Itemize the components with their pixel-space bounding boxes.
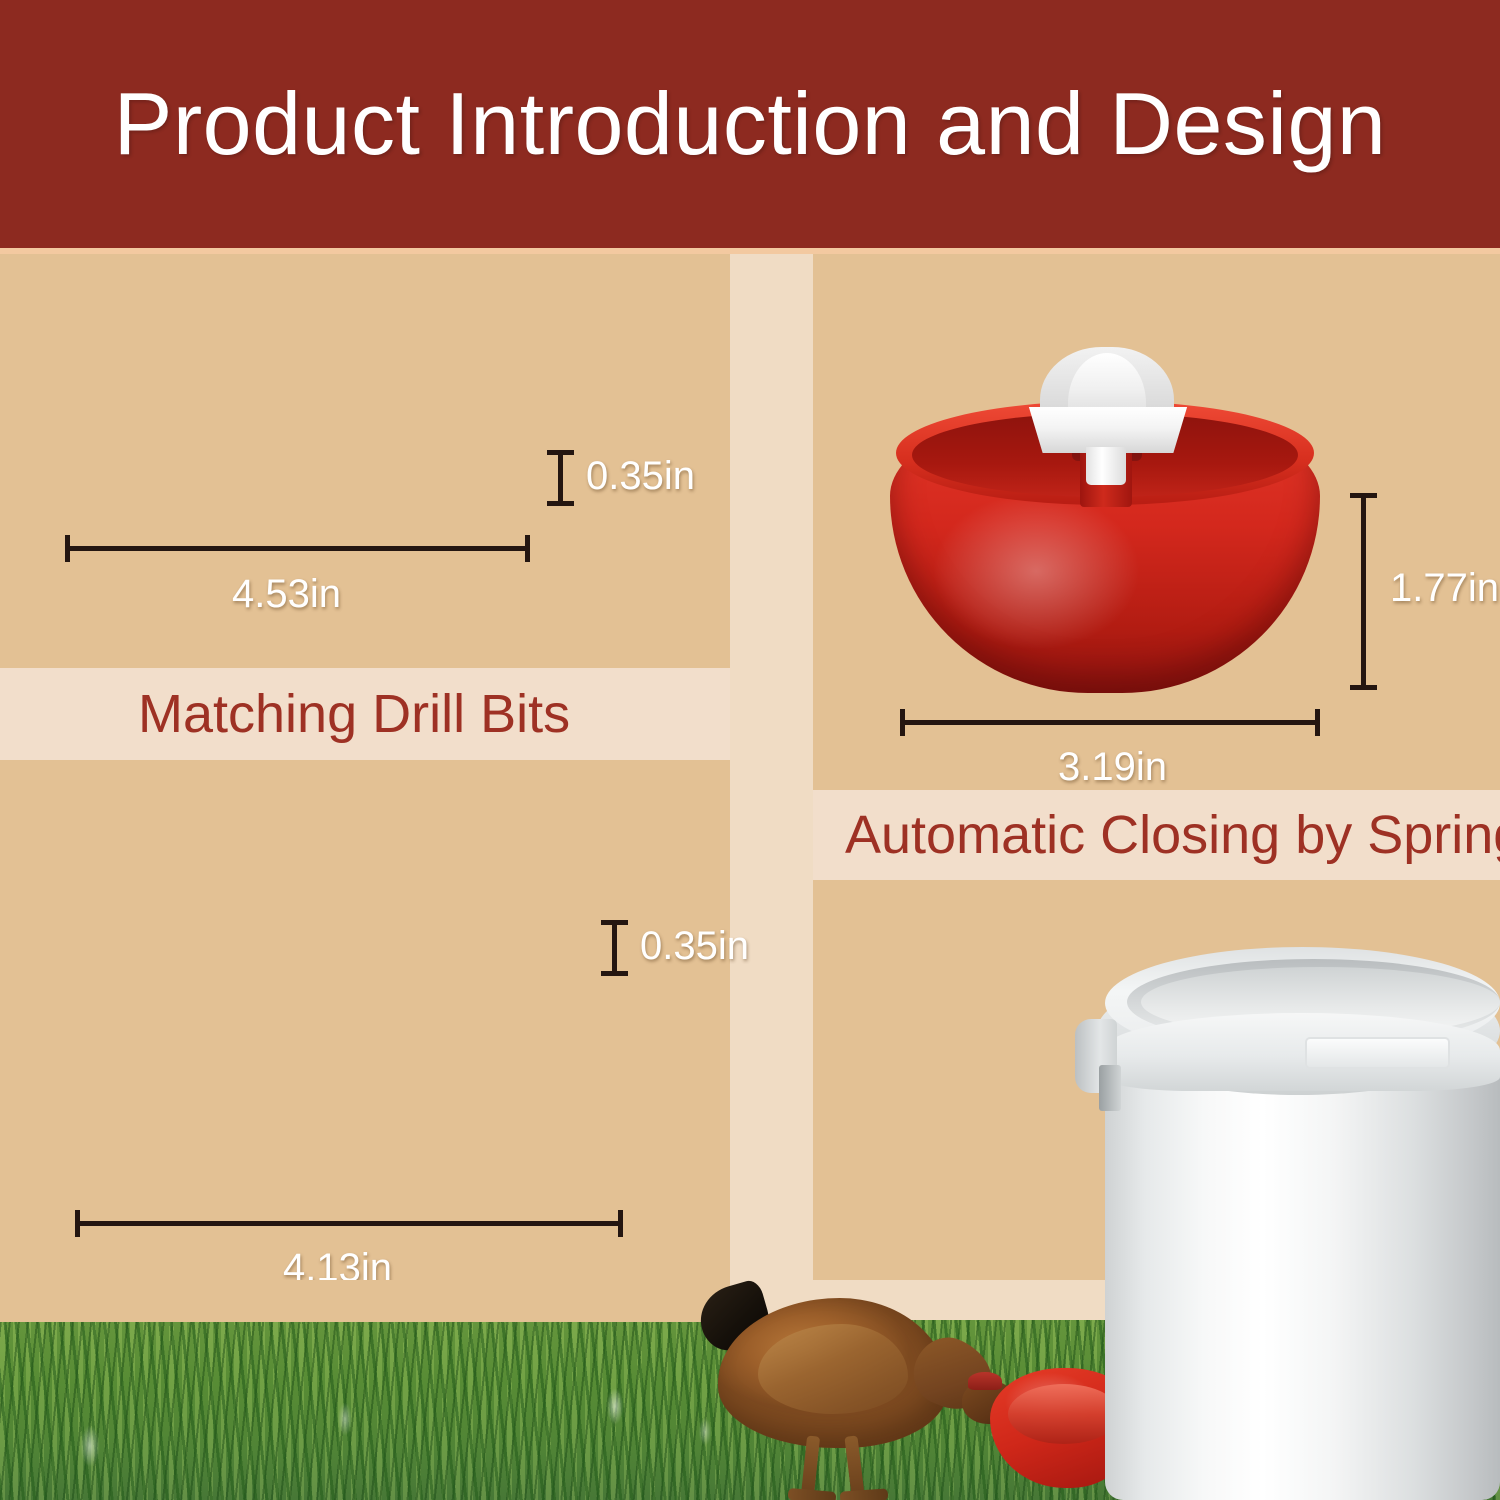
hen-illustration bbox=[700, 1268, 1030, 1500]
bucket-handle-clip bbox=[1099, 1065, 1121, 1111]
hen-foot-left bbox=[788, 1488, 837, 1500]
panel-drill-bits: 0.35in 4.53in bbox=[0, 254, 730, 668]
dimension-line-cup-width bbox=[900, 720, 1320, 725]
panel-spring-cup: 1.77in 3.19in bbox=[813, 254, 1500, 790]
white-bucket-image bbox=[1075, 925, 1500, 1500]
spring-cap-neck bbox=[1086, 447, 1126, 485]
dimension-label-cup-height: 1.77in bbox=[1390, 566, 1499, 611]
dimension-line-cup-height bbox=[1361, 493, 1366, 690]
caption-matching-drill-bits: Matching Drill Bits bbox=[138, 683, 570, 745]
dimension-label-stem-diameter: 0.35in bbox=[640, 924, 749, 969]
dimension-line-stem-diameter bbox=[612, 920, 617, 976]
bucket-body bbox=[1105, 1045, 1500, 1500]
bucket-handle-tab bbox=[1305, 1037, 1450, 1069]
dimension-line-drill-diameter bbox=[558, 450, 563, 506]
header-banner: Product Introduction and Design bbox=[0, 0, 1500, 248]
infographic-page: Product Introduction and Design 0.35in 4… bbox=[0, 0, 1500, 1500]
hen-foot-right bbox=[840, 1488, 889, 1500]
panel-cup-bottom-fill bbox=[0, 1280, 730, 1322]
spring-drinking-cup-image bbox=[890, 355, 1320, 695]
caption-strip-drill-bits: Matching Drill Bits bbox=[0, 668, 730, 760]
caption-strip-spring-cup: Automatic Closing by Spring bbox=[813, 790, 1500, 880]
dimension-line-assembly-length bbox=[75, 1221, 623, 1226]
caption-automatic-closing-by-spring: Automatic Closing by Spring bbox=[845, 804, 1500, 866]
dimension-label-cup-width: 3.19in bbox=[1058, 745, 1167, 790]
panel-cup-connector: 0.35in 4.13in bbox=[0, 760, 730, 1322]
dimension-line-drill-length bbox=[65, 546, 530, 551]
dimension-label-drill-length: 4.53in bbox=[232, 572, 341, 617]
dimension-label-drill-diameter: 0.35in bbox=[586, 454, 695, 499]
page-title: Product Introduction and Design bbox=[114, 73, 1387, 175]
